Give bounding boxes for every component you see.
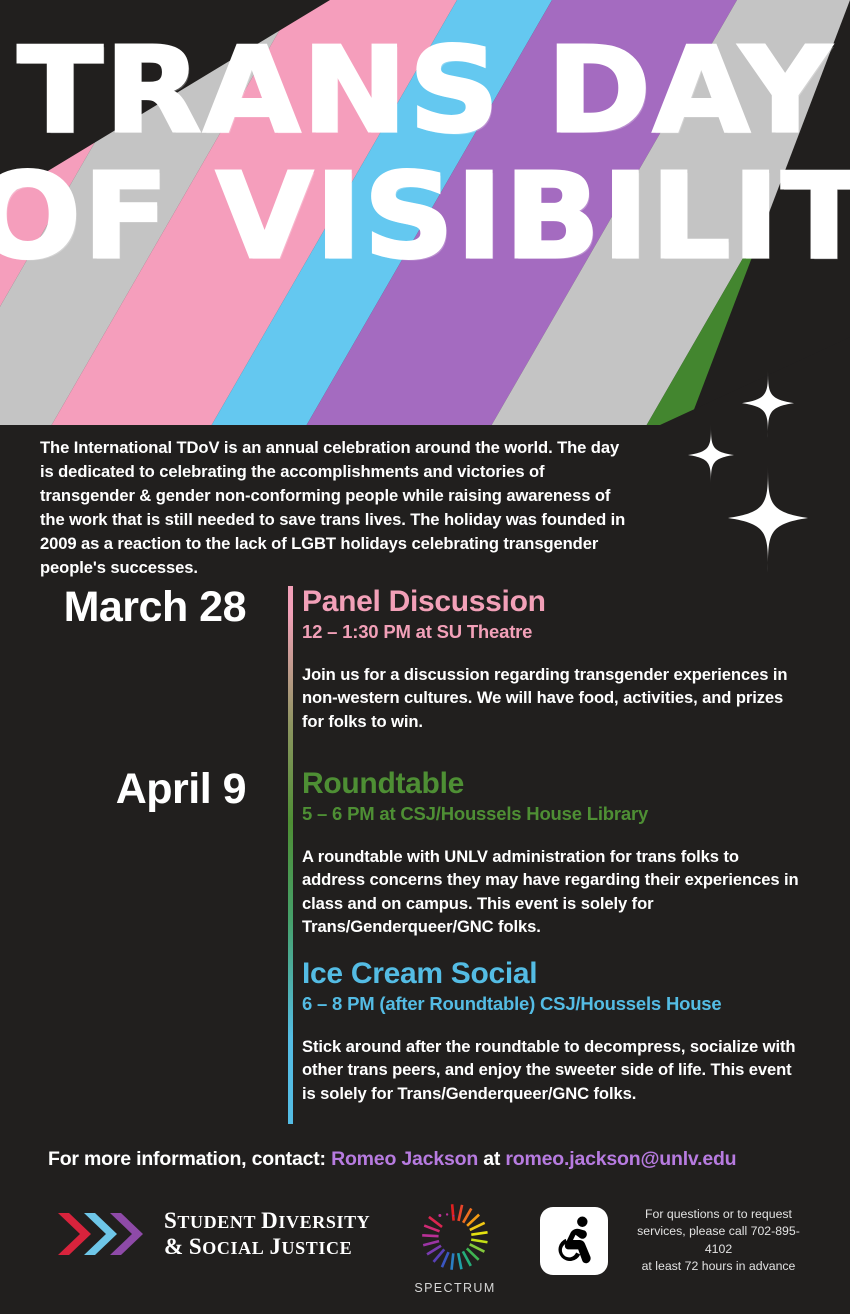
event-date: April 9 bbox=[0, 768, 246, 811]
event-date-column: April 9 bbox=[0, 768, 268, 939]
sparkle-top-icon bbox=[742, 368, 794, 438]
event-description: Stick around after the roundtable to dec… bbox=[302, 1035, 802, 1106]
chevrons-icon bbox=[58, 1211, 150, 1257]
event-date-column: March 28 bbox=[0, 586, 268, 733]
event-info-column: Panel Discussion12 – 1:30 PM at SU Theat… bbox=[268, 586, 850, 733]
poster-root: TRANS DAY OF VISIBILITY The Internationa… bbox=[0, 0, 850, 1314]
accessibility-line-3: at least 72 hours in advance bbox=[626, 1258, 811, 1275]
event-row: April 9Roundtable5 – 6 PM at CSJ/Houssel… bbox=[0, 768, 850, 939]
sparkle-large-icon bbox=[728, 464, 808, 572]
spectrum-burst-icon bbox=[410, 1200, 500, 1274]
header-banner bbox=[0, 0, 850, 425]
footer: STUDENT DIVERSITY & SOCIAL JUSTICE SPECT… bbox=[0, 1196, 850, 1308]
sdsj-line-1: STUDENT DIVERSITY bbox=[164, 1208, 370, 1234]
accessibility-block: For questions or to request services, pl… bbox=[540, 1206, 811, 1276]
sdsj-logo-text: STUDENT DIVERSITY & SOCIAL JUSTICE bbox=[164, 1208, 370, 1260]
event-description: Join us for a discussion regarding trans… bbox=[302, 663, 802, 734]
contact-line: For more information, contact: Romeo Jac… bbox=[48, 1148, 736, 1171]
spectrum-label: SPECTRUM bbox=[400, 1281, 510, 1295]
event-date: March 28 bbox=[0, 586, 246, 629]
event-description: A roundtable with UNLV administration fo… bbox=[302, 845, 802, 939]
sdsj-logo: STUDENT DIVERSITY & SOCIAL JUSTICE bbox=[58, 1208, 370, 1260]
contact-email-link[interactable]: romeo.jackson@unlv.edu bbox=[505, 1148, 736, 1170]
event-row: March 28Panel Discussion12 – 1:30 PM at … bbox=[0, 586, 850, 733]
wheelchair-accessible-icon bbox=[540, 1207, 608, 1275]
intro-paragraph: The International TDoV is an annual cele… bbox=[40, 436, 630, 580]
sdsj-line-2: & SOCIAL JUSTICE bbox=[164, 1234, 370, 1260]
contact-middle: at bbox=[478, 1148, 505, 1170]
event-time-location: 5 – 6 PM at CSJ/Houssels House Library bbox=[302, 803, 850, 825]
contact-prefix: For more information, contact: bbox=[48, 1148, 331, 1170]
accessibility-line-2: services, please call 702-895-4102 bbox=[626, 1223, 811, 1258]
event-info-column: Ice Cream Social6 – 8 PM (after Roundtab… bbox=[268, 958, 850, 1105]
event-info-column: Roundtable5 – 6 PM at CSJ/Houssels House… bbox=[268, 768, 850, 939]
event-title: Roundtable bbox=[302, 768, 850, 800]
spectrum-logo: SPECTRUM bbox=[400, 1200, 510, 1295]
accessibility-line-1: For questions or to request bbox=[626, 1206, 811, 1223]
contact-name: Romeo Jackson bbox=[331, 1148, 478, 1170]
event-title: Panel Discussion bbox=[302, 586, 850, 618]
event-title: Ice Cream Social bbox=[302, 958, 850, 990]
event-date-column bbox=[0, 958, 268, 1105]
event-time-location: 12 – 1:30 PM at SU Theatre bbox=[302, 621, 850, 643]
event-time-location: 6 – 8 PM (after Roundtable) CSJ/Houssels… bbox=[302, 993, 850, 1015]
accessibility-text: For questions or to request services, pl… bbox=[626, 1206, 811, 1276]
event-row: Ice Cream Social6 – 8 PM (after Roundtab… bbox=[0, 958, 850, 1105]
